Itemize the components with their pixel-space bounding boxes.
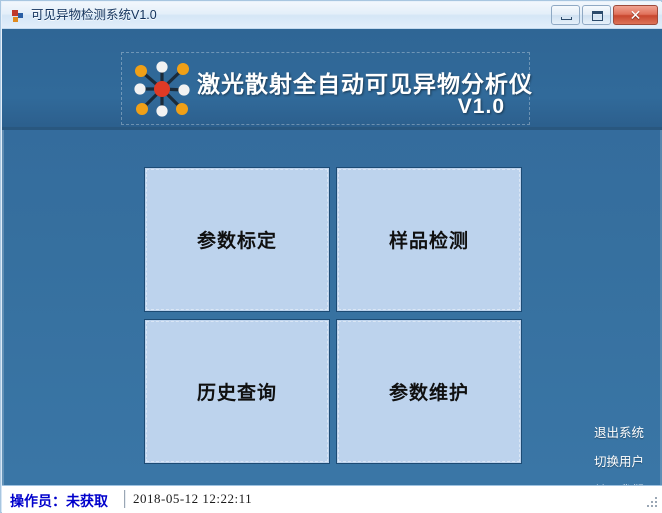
resize-grip-icon[interactable] (645, 497, 658, 510)
header-panel: 激光散射全自动可见异物分析仪 V1.0 (121, 52, 530, 125)
app-icon (11, 9, 25, 23)
molecule-star-icon (128, 55, 196, 123)
application-window: 可见异物检测系统V1.0 ✕ (0, 0, 662, 513)
header-band: 激光散射全自动可见异物分析仪 V1.0 (2, 29, 662, 130)
maximize-icon (592, 11, 603, 21)
tile-history-query[interactable]: 历史查询 (144, 319, 330, 464)
tile-parameter-maintenance[interactable]: 参数维护 (336, 319, 522, 464)
close-icon: ✕ (614, 6, 657, 24)
maximize-button[interactable] (582, 5, 611, 25)
status-operator: 操作员：未获取 (10, 491, 108, 511)
title-bar[interactable]: 可见异物检测系统V1.0 ✕ (2, 2, 662, 29)
minimize-button[interactable] (551, 5, 580, 25)
status-datetime: 2018-05-12 12:22:11 (133, 491, 252, 507)
product-title: 激光散射全自动可见异物分析仪 (197, 65, 533, 99)
status-separator (124, 490, 126, 508)
window-controls: ✕ (551, 5, 658, 25)
status-bar: 操作员：未获取 2018-05-12 12:22:11 (2, 485, 662, 513)
window-title: 可见异物检测系统V1.0 (31, 7, 157, 24)
tile-sample-detection[interactable]: 样品检测 (336, 167, 522, 312)
product-version: V1.0 (458, 95, 505, 119)
client-area: 激光散射全自动可见异物分析仪 V1.0 参数标定 样品检测 历史查询 参数维护 … (2, 29, 662, 485)
link-exit-system[interactable]: 退出系统 (554, 426, 644, 440)
minimize-icon (561, 17, 572, 20)
close-button[interactable]: ✕ (613, 5, 658, 25)
tile-parameter-calibration[interactable]: 参数标定 (144, 167, 330, 312)
action-links: 退出系统 切换用户 关于我们 (554, 426, 644, 485)
main-menu-grid: 参数标定 样品检测 历史查询 参数维护 (144, 167, 522, 464)
link-switch-user[interactable]: 切换用户 (554, 455, 644, 469)
